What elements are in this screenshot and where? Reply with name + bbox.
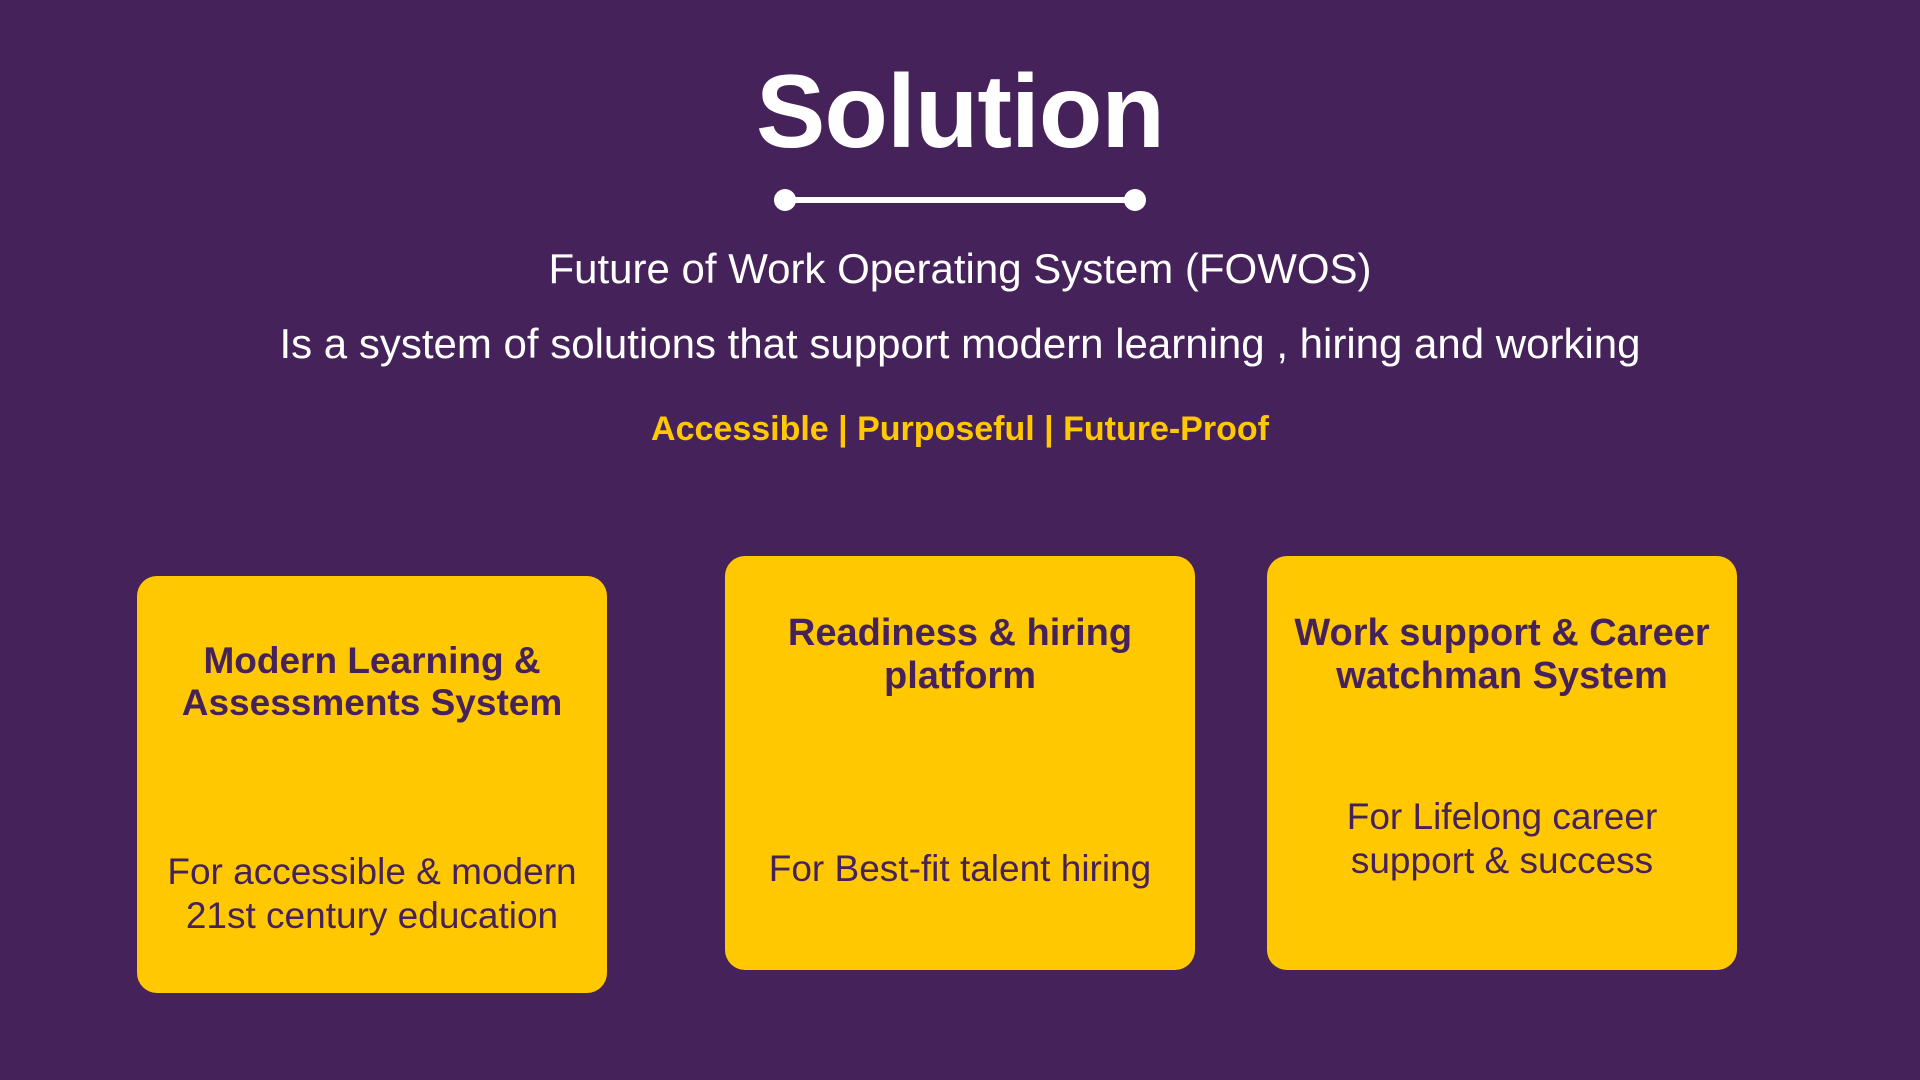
card-spacer <box>159 724 585 851</box>
solution-card[interactable]: Work support & Career watchman System Fo… <box>1267 556 1737 970</box>
subtitle-secondary: Is a system of solutions that support mo… <box>0 318 1920 371</box>
card-title: Modern Learning & Assessments System <box>159 640 585 724</box>
card-description: For accessible & modern 21st century edu… <box>159 850 585 937</box>
tagline: Accessible | Purposeful | Future-Proof <box>0 408 1920 451</box>
title-divider <box>774 189 1146 211</box>
solution-card-group: Modern Learning & Assessments System For… <box>0 556 1920 1016</box>
divider-line <box>782 197 1138 203</box>
solution-card[interactable]: Readiness & hiring platform For Best-fit… <box>725 556 1195 970</box>
divider-dot-right-icon <box>1124 189 1146 211</box>
card-title: Work support & Career watchman System <box>1289 612 1715 698</box>
card-spacer <box>1289 698 1715 796</box>
slide-canvas: Solution Future of Work Operating System… <box>0 0 1920 1080</box>
card-description: For Lifelong career support & success <box>1289 795 1715 882</box>
subtitle-primary: Future of Work Operating System (FOWOS) <box>0 243 1920 296</box>
slide-header: Solution Future of Work Operating System… <box>0 0 1920 451</box>
solution-card[interactable]: Modern Learning & Assessments System For… <box>137 576 607 993</box>
card-title: Readiness & hiring platform <box>747 612 1173 698</box>
page-title: Solution <box>0 0 1920 167</box>
card-spacer <box>747 698 1173 847</box>
card-description: For Best-fit talent hiring <box>747 847 1173 890</box>
